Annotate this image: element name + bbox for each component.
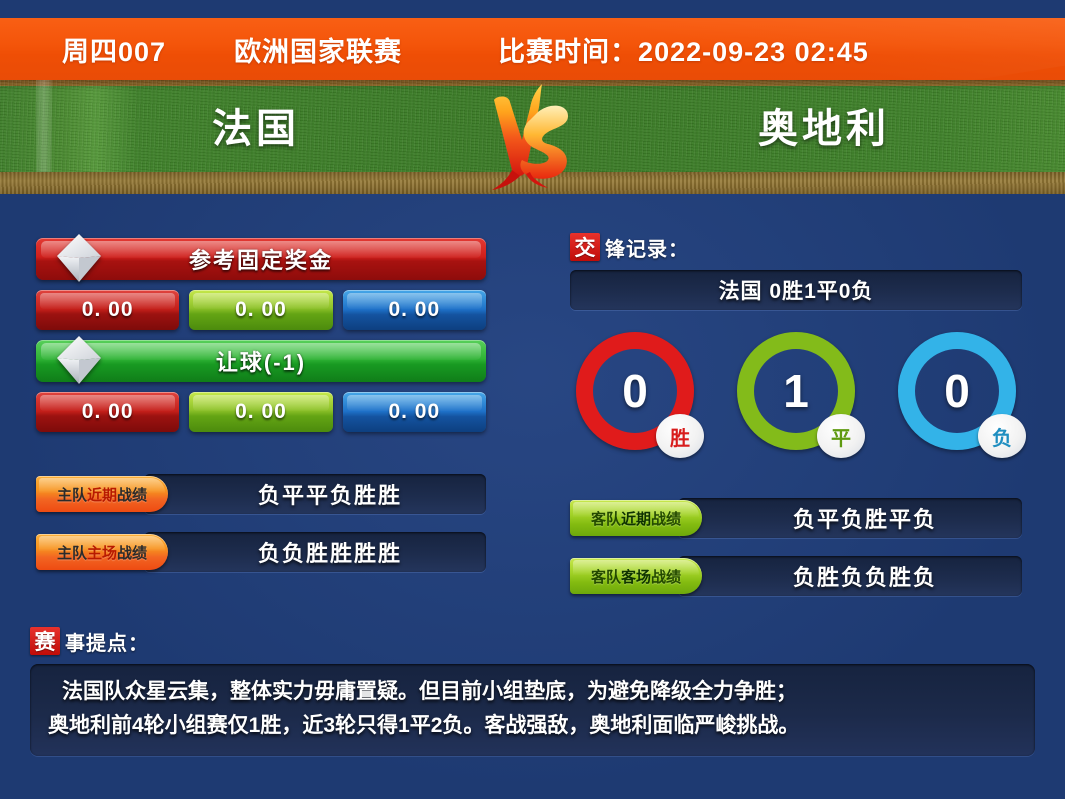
analysis-text-box: 法国队众星云集，整体实力毋庸置疑。但目前小组垫底，为避免降级全力争胜； 奥地利前… bbox=[30, 664, 1035, 756]
home-venue-record-value: 负负胜胜胜胜 bbox=[228, 536, 402, 568]
diamond-icon bbox=[56, 334, 102, 386]
head-to-head-panel: 交 锋记录： 法国 0胜1平0负 0 胜 1 平 0 负 bbox=[570, 232, 1022, 614]
analysis-line-2: 奥地利前4轮小组赛仅1胜，近3轮只得1平2负。客战强敌，奥地利面临严峻挑战。 bbox=[48, 709, 1017, 743]
handicap-loss-odd[interactable]: 0. 00 bbox=[343, 392, 486, 432]
h2h-loss-ring: 0 负 bbox=[898, 332, 1016, 450]
home-recent-record-track: 负平平负胜胜 bbox=[144, 474, 486, 514]
league-name-label: 欧洲国家联赛 bbox=[234, 30, 402, 69]
analysis-title-text: 事提点： bbox=[65, 627, 149, 656]
away-recent-record-track: 负平负胜平负 bbox=[678, 498, 1022, 538]
home-team-name: 法国 bbox=[212, 96, 300, 154]
handicap-odds-row: 0. 00 0. 00 0. 00 bbox=[36, 392, 486, 432]
h2h-title-chip: 交 bbox=[570, 233, 600, 261]
fixed-bonus-win-odd[interactable]: 0. 00 bbox=[36, 290, 179, 330]
fixed-bonus-loss-odd[interactable]: 0. 00 bbox=[343, 290, 486, 330]
match-header-bar: 周四007 欧洲国家联赛 比赛时间：2022-09-23 02:45 bbox=[0, 18, 1065, 80]
win-badge: 胜 bbox=[656, 414, 704, 458]
away-recent-record-value: 负平负胜平负 bbox=[763, 502, 937, 534]
home-venue-record-track: 负负胜胜胜胜 bbox=[144, 532, 486, 572]
fixed-bonus-title-bar: 参考固定奖金 bbox=[36, 238, 486, 280]
home-venue-record-row: 主队主场战绩 负负胜胜胜胜 bbox=[36, 532, 486, 572]
match-preview-page: 周四007 欧洲国家联赛 比赛时间：2022-09-23 02:45 法国 奥地… bbox=[0, 0, 1065, 799]
main-content-area: 参考固定奖金 0. 00 0. 00 0. 00 让球(-1) 0. 00 0.… bbox=[0, 194, 1065, 799]
fixed-bonus-odds-row: 0. 00 0. 00 0. 00 bbox=[36, 290, 486, 330]
away-venue-record-row: 客队客场战绩 负胜负负胜负 bbox=[570, 556, 1022, 596]
analysis-panel: 赛 事提点： 法国队众星云集，整体实力毋庸置疑。但目前小组垫底，为避免降级全力争… bbox=[30, 626, 1035, 756]
match-round-label: 周四007 bbox=[62, 30, 166, 69]
vs-flame-icon bbox=[478, 82, 582, 192]
loss-badge: 负 bbox=[978, 414, 1026, 458]
h2h-title-text: 锋记录： bbox=[605, 233, 689, 262]
away-recent-record-row: 客队近期战绩 负平负胜平负 bbox=[570, 498, 1022, 538]
handicap-draw-odd[interactable]: 0. 00 bbox=[189, 392, 332, 432]
away-team-name: 奥地利 bbox=[758, 96, 890, 154]
fixed-bonus-title-text: 参考固定奖金 bbox=[189, 243, 333, 275]
h2h-draw-ring: 1 平 bbox=[737, 332, 855, 450]
home-venue-record-label: 主队主场战绩 bbox=[36, 534, 168, 570]
home-recent-record-value: 负平平负胜胜 bbox=[228, 478, 402, 510]
away-venue-record-label: 客队客场战绩 bbox=[570, 558, 702, 594]
analysis-section-title: 赛 事提点： bbox=[30, 626, 1035, 656]
home-recent-record-row: 主队近期战绩 负平平负胜胜 bbox=[36, 474, 486, 514]
h2h-section-title: 交 锋记录： bbox=[570, 232, 1022, 262]
away-venue-record-value: 负胜负负胜负 bbox=[763, 560, 937, 592]
handicap-title-text: 让球(-1) bbox=[216, 345, 306, 377]
h2h-rings-group: 0 胜 1 平 0 负 bbox=[570, 332, 1022, 450]
draw-badge: 平 bbox=[817, 414, 865, 458]
home-recent-record-label: 主队近期战绩 bbox=[36, 476, 168, 512]
away-recent-record-label: 客队近期战绩 bbox=[570, 500, 702, 536]
handicap-title-bar: 让球(-1) bbox=[36, 340, 486, 382]
odds-panel: 参考固定奖金 0. 00 0. 00 0. 00 让球(-1) 0. 00 0.… bbox=[36, 238, 486, 590]
match-time-label: 比赛时间：2022-09-23 02:45 bbox=[498, 30, 869, 69]
h2h-summary-box: 法国 0胜1平0负 bbox=[570, 270, 1022, 310]
analysis-title-chip: 赛 bbox=[30, 627, 60, 655]
fixed-bonus-draw-odd[interactable]: 0. 00 bbox=[189, 290, 332, 330]
analysis-line-1: 法国队众星云集，整体实力毋庸置疑。但目前小组垫底，为避免降级全力争胜； bbox=[48, 675, 1017, 709]
diamond-icon bbox=[56, 232, 102, 284]
h2h-win-ring: 0 胜 bbox=[576, 332, 694, 450]
away-venue-record-track: 负胜负负胜负 bbox=[678, 556, 1022, 596]
handicap-win-odd[interactable]: 0. 00 bbox=[36, 392, 179, 432]
